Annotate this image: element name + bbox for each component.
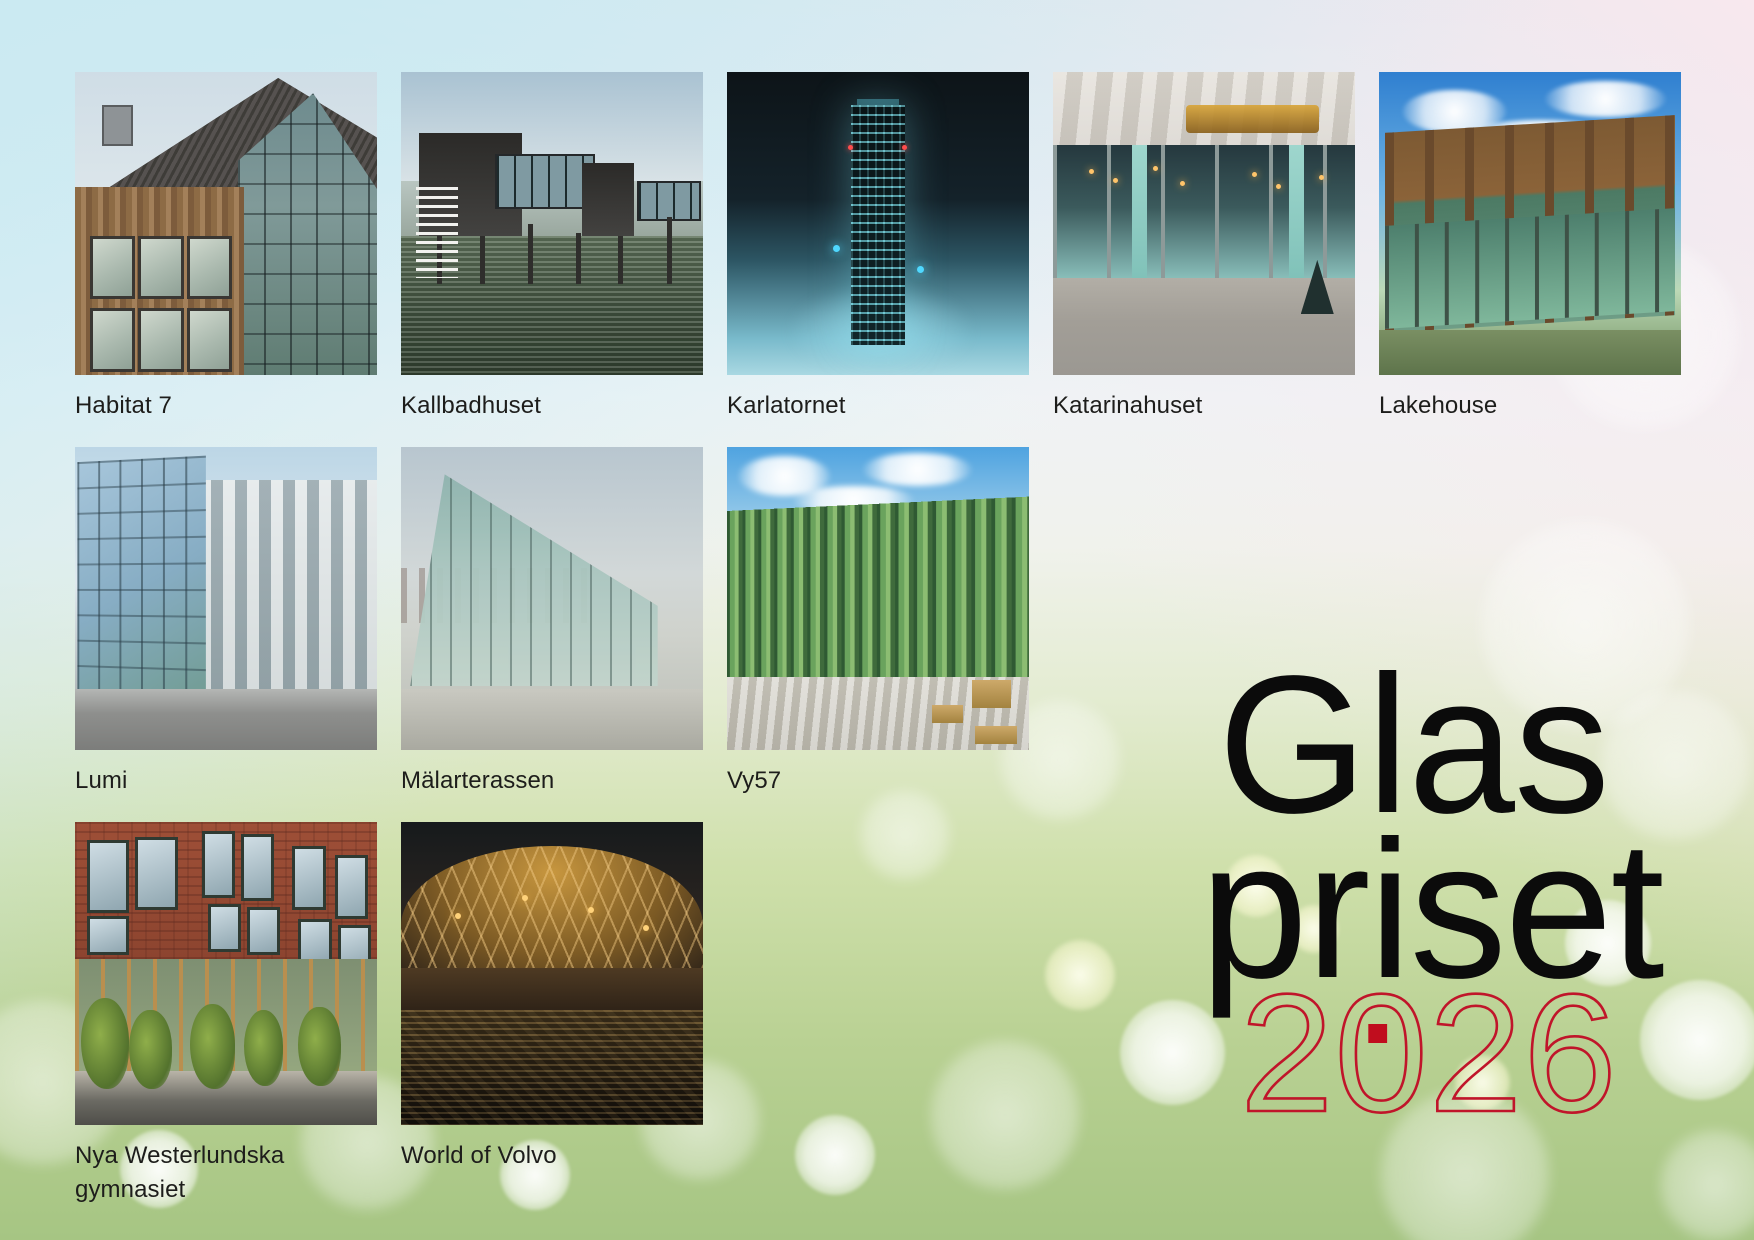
photo-world-of-volvo — [401, 822, 703, 1125]
photo-karlatornet — [727, 72, 1029, 375]
gallery-item-vy57[interactable]: Vy57 — [727, 447, 1029, 798]
gallery-item-caption: Karlatornet — [727, 389, 1029, 423]
gallery-item-lakehouse[interactable]: Lakehouse — [1379, 72, 1681, 423]
gallery-item-katarinahuset[interactable]: Katarinahuset — [1053, 72, 1355, 423]
photo-malarterassen — [401, 447, 703, 750]
thumbnail-image[interactable] — [401, 447, 703, 750]
photo-vy57 — [727, 447, 1029, 750]
thumbnail-image[interactable] — [401, 822, 703, 1125]
photo-kallbadhuset — [401, 72, 703, 375]
gallery-item-habitat-7[interactable]: Habitat 7 — [75, 72, 377, 423]
gallery-item-caption: Katarinahuset — [1053, 389, 1355, 423]
gallery-item-caption: World of Volvo — [401, 1139, 703, 1173]
thumbnail-image[interactable] — [401, 72, 703, 375]
photo-katarinahuset — [1053, 72, 1355, 375]
gallery-item-world-of-volvo[interactable]: World of Volvo — [401, 822, 703, 1207]
gallery-item-caption: Lakehouse — [1379, 389, 1681, 423]
thumbnail-image[interactable] — [727, 447, 1029, 750]
glaspriset-logo: Glas priset 2026 — [1218, 665, 1678, 1129]
gallery-item-malarterassen[interactable]: Mälarterassen — [401, 447, 703, 798]
red-square-dot-icon — [1368, 1024, 1387, 1043]
thumbnail-image[interactable] — [75, 447, 377, 750]
photo-habitat-7 — [75, 72, 377, 375]
gallery-item-nya-westerlundska-gymnasiet[interactable]: Nya Westerlundska gymnasiet — [75, 822, 377, 1207]
thumbnail-image[interactable] — [1379, 72, 1681, 375]
thumbnail-image[interactable] — [727, 72, 1029, 375]
gallery-item-caption: Mälarterassen — [401, 764, 703, 798]
photo-nya-westerlundska-gymnasiet — [75, 822, 377, 1125]
poster-canvas: Habitat 7 — [0, 0, 1754, 1240]
gallery-item-caption: Kallbadhuset — [401, 389, 703, 423]
gallery-row: Habitat 7 — [75, 72, 1505, 423]
photo-lakehouse — [1379, 72, 1681, 375]
gallery-item-caption: Lumi — [75, 764, 377, 798]
gallery-item-lumi[interactable]: Lumi — [75, 447, 377, 798]
logo-word-priset-text: priset — [1200, 800, 1663, 1019]
photo-lumi — [75, 447, 377, 750]
thumbnail-image[interactable] — [75, 822, 377, 1125]
gallery-item-caption: Habitat 7 — [75, 389, 377, 423]
gallery-item-caption: Nya Westerlundska gymnasiet — [75, 1139, 377, 1207]
gallery-item-kallbadhuset[interactable]: Kallbadhuset — [401, 72, 703, 423]
gallery-item-caption: Vy57 — [727, 764, 1029, 798]
bokeh-circle — [1660, 1130, 1754, 1240]
thumbnail-image[interactable] — [75, 72, 377, 375]
thumbnail-image[interactable] — [1053, 72, 1355, 375]
gallery-item-karlatornet[interactable]: Karlatornet — [727, 72, 1029, 423]
logo-word-priset: priset — [1200, 826, 1673, 995]
